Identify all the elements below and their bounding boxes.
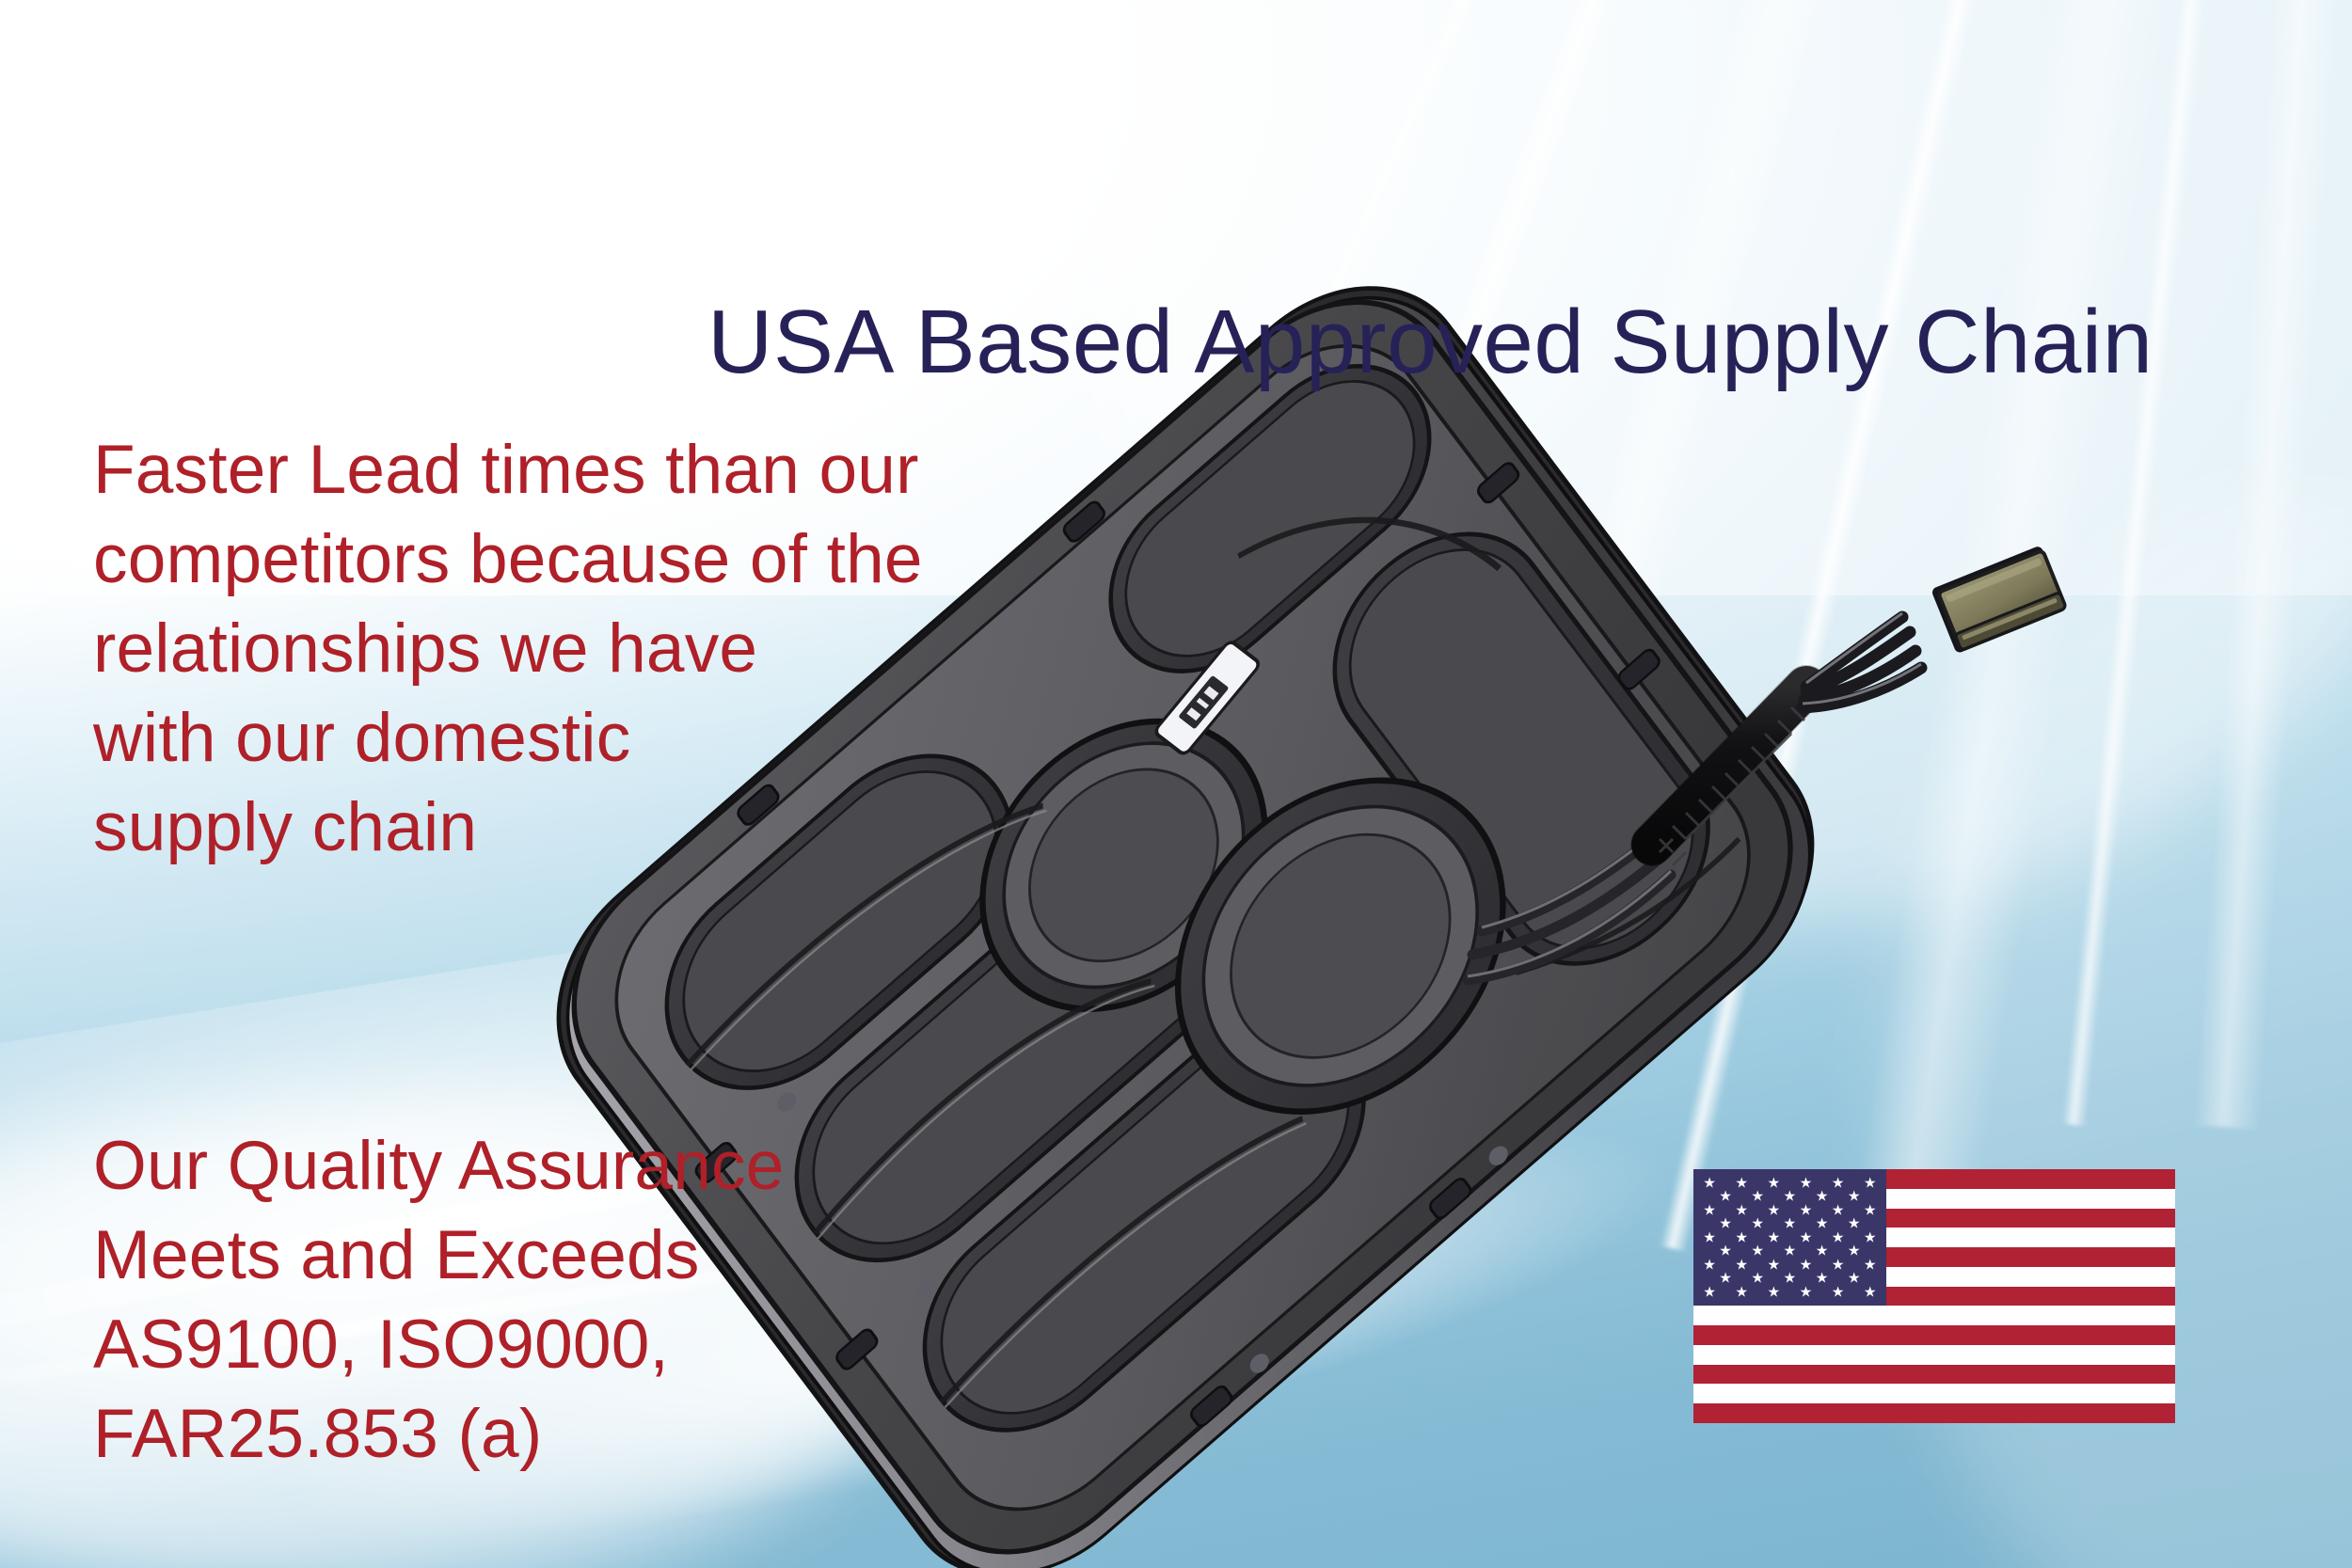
copy-line: competitors because of the (93, 515, 923, 604)
flag-star: ★ (1703, 1176, 1716, 1190)
flag-star: ★ (1832, 1258, 1845, 1272)
flag-star: ★ (1848, 1217, 1861, 1231)
flag-star: ★ (1816, 1189, 1829, 1203)
flag-stripe (1693, 1325, 2175, 1345)
copy-line: relationships we have (93, 604, 923, 693)
copy-line: supply chain (93, 783, 923, 872)
copy-line: Meets and Exceeds (93, 1211, 785, 1300)
lead-times-copy-block: Faster Lead times than our competitors b… (93, 425, 923, 872)
flag-star: ★ (1735, 1230, 1748, 1244)
flag-star: ★ (1800, 1285, 1813, 1299)
flag-star: ★ (1784, 1272, 1797, 1286)
flag-star: ★ (1735, 1176, 1748, 1190)
quality-assurance-copy-block: Our Quality Assurance Meets and Exceeds … (93, 1121, 785, 1479)
flag-star: ★ (1800, 1203, 1813, 1217)
flag-star: ★ (1767, 1203, 1780, 1217)
flag-star: ★ (1767, 1285, 1780, 1299)
flag-star: ★ (1735, 1203, 1748, 1217)
flag-star: ★ (1719, 1217, 1732, 1231)
copy-line: AS9100, ISO9000, (93, 1300, 785, 1389)
flag-star: ★ (1784, 1217, 1797, 1231)
copy-line: with our domestic (93, 693, 923, 783)
page-title: USA Based Approved Supply Chain (707, 297, 2153, 388)
flag-star: ★ (1800, 1230, 1813, 1244)
flag-stripe (1693, 1403, 2175, 1423)
flag-star: ★ (1784, 1244, 1797, 1259)
flag-star: ★ (1735, 1285, 1748, 1299)
flag-star: ★ (1703, 1285, 1716, 1299)
flag-star: ★ (1703, 1230, 1716, 1244)
flag-star: ★ (1848, 1244, 1861, 1259)
slide-canvas: USA Based Approved Supply Chain Faster L… (0, 0, 2352, 1568)
flag-star: ★ (1703, 1203, 1716, 1217)
flag-star: ★ (1848, 1272, 1861, 1286)
flag-star: ★ (1800, 1258, 1813, 1272)
flag-star: ★ (1864, 1203, 1877, 1217)
flag-star: ★ (1800, 1176, 1813, 1190)
flag-star: ★ (1735, 1258, 1748, 1272)
flag-star: ★ (1832, 1203, 1845, 1217)
flag-star: ★ (1832, 1230, 1845, 1244)
flag-canton: ★★★★★★★★★★★★★★★★★★★★★★★★★★★★★★★★★★★★★★★★… (1693, 1169, 1886, 1306)
flag-stripe (1693, 1365, 2175, 1385)
flag-star: ★ (1751, 1189, 1764, 1203)
flag-star: ★ (1719, 1272, 1732, 1286)
flag-star: ★ (1784, 1189, 1797, 1203)
flag-star: ★ (1864, 1285, 1877, 1299)
flag-star: ★ (1767, 1258, 1780, 1272)
flag-star: ★ (1864, 1176, 1877, 1190)
flag-star: ★ (1816, 1272, 1829, 1286)
flag-star: ★ (1832, 1285, 1845, 1299)
flag-star: ★ (1703, 1258, 1716, 1272)
flag-stripe (1693, 1345, 2175, 1365)
flag-star: ★ (1864, 1258, 1877, 1272)
flag-star: ★ (1848, 1189, 1861, 1203)
flag-star: ★ (1832, 1176, 1845, 1190)
flag-stripe (1693, 1384, 2175, 1403)
flag-star: ★ (1864, 1230, 1877, 1244)
copy-line: Our Quality Assurance (93, 1121, 785, 1211)
flag-star: ★ (1816, 1217, 1829, 1231)
copy-line: FAR25.853 (a) (93, 1389, 785, 1479)
flag-star: ★ (1719, 1244, 1732, 1259)
flag-star: ★ (1751, 1217, 1764, 1231)
flag-star: ★ (1751, 1244, 1764, 1259)
flag-star: ★ (1767, 1176, 1780, 1190)
flag-star: ★ (1767, 1230, 1780, 1244)
flag-star: ★ (1751, 1272, 1764, 1286)
united-states-flag: ★★★★★★★★★★★★★★★★★★★★★★★★★★★★★★★★★★★★★★★★… (1693, 1169, 2175, 1423)
flag-stripe (1693, 1306, 2175, 1325)
flag-star: ★ (1719, 1189, 1732, 1203)
flag-star: ★ (1816, 1244, 1829, 1259)
copy-line: Faster Lead times than our (93, 425, 923, 515)
